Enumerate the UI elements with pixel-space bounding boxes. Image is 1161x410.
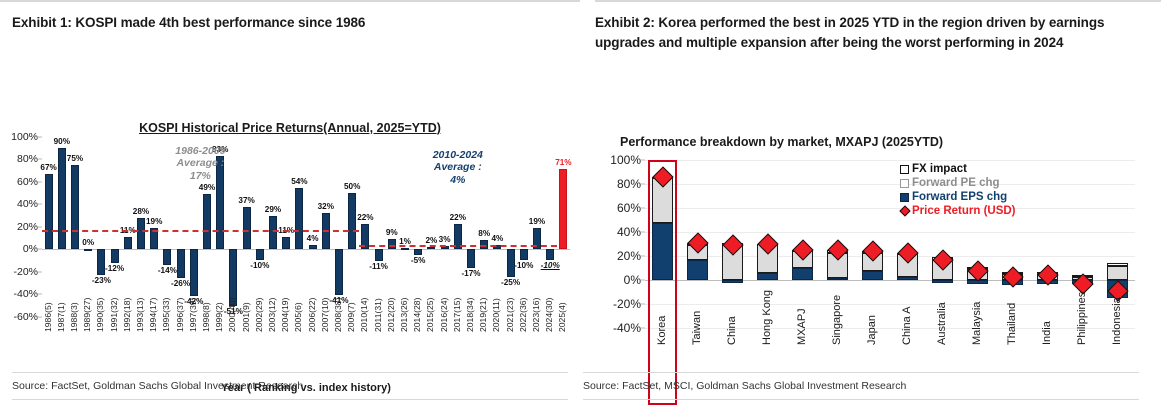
kospi-bar-value-label: 9% — [386, 228, 398, 237]
legend-label: Forward PE chg — [912, 176, 1000, 190]
breakdown-zero-line — [645, 280, 1135, 281]
kospi-bar-value-label: 71% — [555, 158, 571, 167]
kospi-x-tick-label: 1991(32) — [109, 297, 119, 331]
kospi-bar — [427, 247, 435, 249]
kospi-x-tick-label: 1998(8) — [201, 302, 211, 332]
breakdown-bar-segment-eps — [827, 278, 848, 280]
kospi-x-tick-label: 1997(39) — [188, 297, 198, 331]
kospi-bar — [282, 237, 290, 249]
kospi-x-tick-label: 1988(3) — [69, 302, 79, 332]
kospi-bar — [190, 249, 198, 296]
kospi-average-note-line: 17% — [175, 170, 225, 183]
breakdown-y-tick — [641, 160, 645, 161]
kospi-x-tick-label: 2017(15) — [452, 297, 462, 331]
kospi-bar — [71, 165, 79, 249]
kospi-y-tick-label: 0% — [23, 243, 38, 255]
kospi-y-tick-label: 80% — [17, 153, 38, 165]
legend-label: Forward EPS chg — [912, 190, 1007, 204]
kospi-x-tick-label: 2018(34) — [465, 297, 475, 331]
kospi-bar-value-label: -11% — [369, 262, 388, 271]
kospi-x-tick-label: 1987(1) — [56, 302, 66, 332]
kospi-bar — [58, 148, 66, 249]
kospi-y-tick-label: 20% — [17, 221, 38, 233]
breakdown-gridline — [645, 232, 1135, 233]
kospi-bar — [520, 249, 528, 260]
kospi-x-tick-label: 2003(12) — [267, 297, 277, 331]
breakdown-x-tick-label: Indonesia — [1111, 297, 1123, 345]
kospi-bar-value-label: -26% — [171, 279, 190, 288]
kospi-bar-value-label: 90% — [54, 137, 70, 146]
kospi-x-tick-label: 2012(20) — [386, 297, 396, 331]
breakdown-x-tick-label: Australia — [936, 302, 948, 345]
legend-label: FX impact — [912, 162, 967, 176]
exhibit-page: Exhibit 1: KOSPI made 4th best performan… — [0, 0, 1161, 410]
kospi-bar — [375, 249, 383, 261]
exhibit-1-source: Source: FactSet, Goldman Sachs Global In… — [12, 373, 568, 399]
breakdown-x-tick-label: India — [1041, 321, 1053, 345]
breakdown-gridline — [645, 328, 1135, 329]
legend-label: Price Return (USD) — [912, 204, 1016, 218]
breakdown-gridline — [645, 160, 1135, 161]
kospi-bar-value-label: 2% — [425, 236, 437, 245]
kospi-bar-value-label: 29% — [265, 205, 281, 214]
legend-item-pr: Price Return (USD) — [900, 204, 1016, 218]
legend-swatch-pe-icon — [900, 179, 909, 188]
kospi-bar-value-label: 4% — [307, 234, 319, 243]
breakdown-plot-area — [645, 160, 1135, 328]
kospi-x-tick-label: 1995(33) — [161, 297, 171, 331]
breakdown-x-tick-label: Hong Kong — [761, 290, 773, 345]
kospi-bar — [401, 248, 409, 250]
kospi-y-tick — [38, 181, 42, 182]
kospi-bar — [295, 188, 303, 249]
kospi-bar-value-label: -10% — [250, 261, 269, 270]
kospi-average-note-line: 1986-2009 — [175, 145, 225, 158]
exhibit-1-panel: Exhibit 1: KOSPI made 4th best performan… — [0, 0, 580, 410]
breakdown-x-tick-label: China — [726, 316, 738, 345]
breakdown-bar-segment-eps — [757, 273, 778, 280]
kospi-bar-value-label: -23% — [92, 276, 111, 285]
kospi-bar-value-label: 19% — [146, 217, 162, 226]
kospi-bar-value-label: 67% — [40, 163, 56, 172]
kospi-y-tick — [38, 249, 42, 250]
kospi-x-tick-label: 2015(25) — [425, 297, 435, 331]
breakdown-bar-segment-eps — [792, 268, 813, 280]
kospi-bar-value-label: -10% — [541, 261, 560, 270]
breakdown-y-tick-label: 80% — [617, 177, 641, 191]
kospi-average-note-line: 4% — [433, 174, 483, 187]
breakdown-bar-segment-eps — [932, 280, 953, 282]
breakdown-y-tick — [641, 304, 645, 305]
kospi-x-tick-label: 2014(28) — [412, 297, 422, 331]
breakdown-x-tick-label: Taiwan — [691, 311, 703, 345]
kospi-average-note-line: Average : — [433, 161, 483, 174]
kospi-bar-value-label: 8% — [478, 229, 490, 238]
kospi-bar — [45, 174, 53, 249]
kospi-bar — [256, 249, 264, 260]
korea-highlight-box — [648, 160, 677, 405]
breakdown-x-tick-label: Thailand — [1006, 303, 1018, 345]
kospi-y-tick — [38, 204, 42, 205]
breakdown-y-tick-label: 100% — [610, 153, 641, 167]
kospi-bar-value-label: 3% — [439, 235, 451, 244]
breakdown-y-axis: 100%80%60%40%20%0%-20%-40% — [595, 160, 645, 328]
breakdown-bar-segment-eps — [687, 260, 708, 280]
kospi-bar — [124, 237, 132, 249]
kospi-x-tick-label: 2016(24) — [439, 297, 449, 331]
breakdown-x-tick-label: Philippines — [1076, 292, 1088, 345]
kospi-chart-title: KOSPI Historical Price Returns(Annual, 2… — [40, 121, 540, 135]
kospi-x-tick-label: 2006(22) — [307, 297, 317, 331]
breakdown-y-tick-label: 60% — [617, 201, 641, 215]
kospi-x-tick-label: 1990(35) — [95, 297, 105, 331]
kospi-x-tick-label: 1994(17) — [148, 297, 158, 331]
breakdown-gridline — [645, 208, 1135, 209]
kospi-x-tick-label: 1999(2) — [214, 302, 224, 332]
kospi-x-tick-label: 1986(5) — [43, 302, 53, 332]
kospi-bar — [84, 249, 92, 251]
kospi-bar-value-label: 0% — [82, 238, 94, 247]
breakdown-x-tick-label: Japan — [866, 315, 878, 345]
kospi-x-tick-label: 2009(7) — [346, 302, 356, 332]
kospi-bar — [177, 249, 185, 278]
kospi-x-tick-label: 2007(10) — [320, 297, 330, 331]
kospi-bar — [546, 249, 554, 260]
kospi-average-note-line: Average : — [175, 157, 225, 170]
kospi-x-tick-label: 1992(18) — [122, 297, 132, 331]
kospi-average-line — [42, 230, 359, 232]
kospi-bar-value-label: -10% — [514, 261, 533, 270]
exhibit-1-source-block: Source: FactSet, Goldman Sachs Global In… — [12, 372, 568, 400]
breakdown-chart-title: Performance breakdown by market, MXAPJ (… — [620, 135, 1140, 149]
breakdown-bar-segment-eps — [722, 280, 743, 282]
kospi-y-tick — [38, 159, 42, 160]
breakdown-y-tick-label: 40% — [617, 225, 641, 239]
kospi-x-tick-label: 2002(29) — [254, 297, 264, 331]
kospi-bar-value-label: 37% — [238, 196, 254, 205]
kospi-x-tick-label: 2013(26) — [399, 297, 409, 331]
breakdown-bar-segment-eps — [862, 271, 883, 281]
kospi-x-tick-label: 1996(37) — [175, 297, 185, 331]
breakdown-bar-segment-eps — [897, 277, 918, 281]
exhibit-2-title: Exhibit 2: Korea performed the best in 2… — [595, 2, 1161, 52]
breakdown-legend: FX impactForward PE chgForward EPS chgPr… — [900, 162, 1016, 218]
kospi-bar-value-label: 4% — [491, 234, 503, 243]
kospi-average-note-line: 2010-2024 — [433, 149, 483, 162]
kospi-bar — [243, 207, 251, 249]
kospi-y-tick-label: 100% — [11, 131, 38, 143]
kospi-bar-value-label: -14% — [158, 266, 177, 275]
breakdown-x-tick-label: China A — [901, 307, 913, 346]
kospi-x-tick-label: 2004(19) — [280, 297, 290, 331]
kospi-bar-value-label: -25% — [501, 278, 520, 287]
source-rule-bottom-right — [583, 399, 1139, 400]
kospi-y-tick — [38, 271, 42, 272]
kospi-x-tick-label: 1993(13) — [135, 297, 145, 331]
kospi-x-tick-label: 1989(27) — [82, 297, 92, 331]
breakdown-y-tick — [641, 184, 645, 185]
kospi-zero-line — [42, 249, 570, 250]
breakdown-y-tick — [641, 232, 645, 233]
breakdown-x-tick-label: Malaysia — [971, 302, 983, 345]
kospi-bar-value-label: 32% — [318, 202, 334, 211]
kospi-bar-value-label: 22% — [450, 213, 466, 222]
kospi-x-tick-label: 2022(36) — [518, 297, 528, 331]
breakdown-x-tick-label: Singapore — [831, 295, 843, 345]
breakdown-x-tick-label: MXAPJ — [796, 308, 808, 345]
kospi-average-note: 1986-2009Average :17% — [175, 145, 225, 183]
kospi-y-tick — [38, 316, 42, 317]
breakdown-y-tick-label: 0% — [624, 273, 641, 287]
legend-item-eps: Forward EPS chg — [900, 190, 1016, 204]
kospi-bar — [335, 249, 343, 295]
exhibit-2-panel: Exhibit 2: Korea performed the best in 2… — [580, 0, 1161, 410]
kospi-bar — [414, 249, 422, 255]
kospi-y-tick-label: -60% — [13, 311, 38, 323]
kospi-bar-value-label: -12% — [105, 264, 124, 273]
kospi-x-tick-label: 2020(11) — [491, 298, 501, 332]
source-rule-bottom-left — [12, 399, 568, 400]
exhibit-1-title: Exhibit 1: KOSPI made 4th best performan… — [0, 2, 580, 33]
legend-swatch-eps-icon — [900, 193, 909, 202]
legend-swatch-pr-icon — [899, 206, 910, 217]
kospi-x-tick-label: 2011(31) — [373, 298, 383, 332]
kospi-x-tick-label: 2005(6) — [293, 302, 303, 332]
kospi-bar-value-label: 75% — [67, 154, 83, 163]
kospi-bar — [309, 245, 317, 250]
kospi-y-tick — [38, 294, 42, 295]
kospi-bar — [163, 249, 171, 265]
kospi-bar — [467, 249, 475, 268]
breakdown-gridline — [645, 304, 1135, 305]
kospi-x-tick-label: 2023(16) — [531, 297, 541, 331]
kospi-bar-value-label: 49% — [199, 183, 215, 192]
kospi-x-tick-label: 2008(38) — [333, 297, 343, 331]
kospi-x-tick-label: 2019(21) — [478, 297, 488, 331]
breakdown-y-tick-label: -20% — [613, 297, 641, 311]
kospi-bar — [559, 169, 567, 249]
kospi-bar-value-label: 50% — [344, 182, 360, 191]
kospi-bar — [269, 216, 277, 249]
kospi-plot-area: 67%90%75%0%-23%-12%11%28%19%-14%-26%-42%… — [42, 137, 570, 317]
kospi-bar — [137, 218, 145, 250]
kospi-y-axis: 100%80%60%40%20%0%-20%-40%-60% — [0, 137, 42, 317]
breakdown-y-tick-label: 20% — [617, 249, 641, 263]
legend-swatch-fx-icon — [900, 165, 909, 174]
legend-item-fx: FX impact — [900, 162, 1016, 176]
kospi-bar-value-label: -5% — [411, 256, 426, 265]
breakdown-gridline — [645, 256, 1135, 257]
kospi-y-tick-label: 40% — [17, 198, 38, 210]
exhibit-2-source: Source: FactSet, MSCI, Goldman Sachs Glo… — [583, 373, 1139, 399]
kospi-x-tick-label: 2001(9) — [241, 302, 251, 332]
breakdown-bar-segment-pe — [1107, 266, 1128, 280]
kospi-bar-value-label: 19% — [529, 217, 545, 226]
kospi-average-line — [359, 245, 557, 247]
kospi-x-tick-label: 2010(14) — [359, 297, 369, 331]
kospi-bar — [348, 193, 356, 249]
kospi-x-tick-label: 2025(4) — [557, 302, 567, 332]
kospi-y-tick-label: -40% — [13, 288, 38, 300]
breakdown-y-tick — [641, 328, 645, 329]
kospi-y-tick — [38, 226, 42, 227]
kospi-bar-value-label: 28% — [133, 207, 149, 216]
kospi-x-tick-label: 2024(30) — [544, 297, 554, 331]
kospi-x-tick-label: 2000(40) — [227, 297, 237, 331]
kospi-bar-value-label: 54% — [291, 177, 307, 186]
breakdown-y-tick — [641, 208, 645, 209]
exhibit-2-source-block: Source: FactSet, MSCI, Goldman Sachs Glo… — [583, 372, 1139, 400]
kospi-y-tick-label: -20% — [13, 266, 38, 278]
kospi-y-tick-label: 60% — [17, 176, 38, 188]
kospi-bar — [111, 249, 119, 263]
kospi-bar-value-label: 22% — [357, 213, 373, 222]
kospi-bar-value-label: -17% — [461, 269, 480, 278]
kospi-x-tick-label: 2021(23) — [505, 297, 515, 331]
breakdown-y-tick — [641, 256, 645, 257]
breakdown-bar-segment-fx — [1107, 263, 1128, 265]
kospi-average-note: 2010-2024Average :4% — [433, 149, 483, 187]
kospi-bar — [203, 194, 211, 249]
kospi-y-tick — [38, 136, 42, 137]
breakdown-gridline — [645, 184, 1135, 185]
legend-item-pe: Forward PE chg — [900, 176, 1016, 190]
breakdown-y-tick-label: -40% — [613, 321, 641, 335]
breakdown-y-tick — [641, 280, 645, 281]
